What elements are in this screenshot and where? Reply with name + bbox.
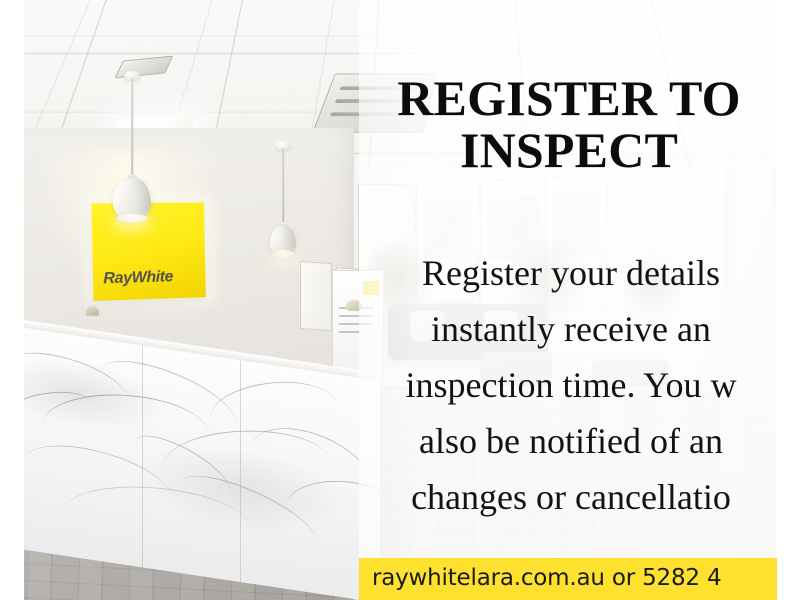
ray-white-wall-sign: RayWhite <box>91 203 205 301</box>
contact-details-text: raywhitelara.com.au or 5282 4 <box>372 565 721 591</box>
standee-text-line <box>339 331 359 333</box>
body-line-1: Register your details <box>359 245 777 301</box>
marble-panel-seam <box>142 345 143 567</box>
body-line-5: changes or cancellatio <box>359 469 777 525</box>
body-line-3: inspection time. You w <box>359 357 777 413</box>
right-white-margin <box>777 0 800 600</box>
contact-footer-banner: raywhitelara.com.au or 5282 4 <box>359 558 777 600</box>
marble-panel-seam <box>240 360 241 582</box>
headline-line-1: REGISTER TO <box>397 70 741 126</box>
lamp-cord <box>131 78 133 178</box>
poster-text-block: REGISTER TO INSPECT Register your detail… <box>359 0 777 600</box>
lamp-cord <box>282 148 284 226</box>
body-line-2: instantly receive an <box>359 301 777 357</box>
poster-headline: REGISTER TO INSPECT <box>359 72 777 176</box>
lamp-shade <box>270 226 296 256</box>
ray-white-logo: RayWhite <box>103 268 173 288</box>
body-line-4: also be notified of an <box>359 413 777 469</box>
left-white-margin <box>0 0 24 600</box>
poster-body-copy: Register your details instantly receive … <box>359 245 777 525</box>
headline-line-2: INSPECT <box>359 124 777 176</box>
poster-canvas: RayWhite <box>0 0 800 600</box>
reception-desk-bell <box>86 306 99 315</box>
lamp-shade <box>113 178 151 220</box>
